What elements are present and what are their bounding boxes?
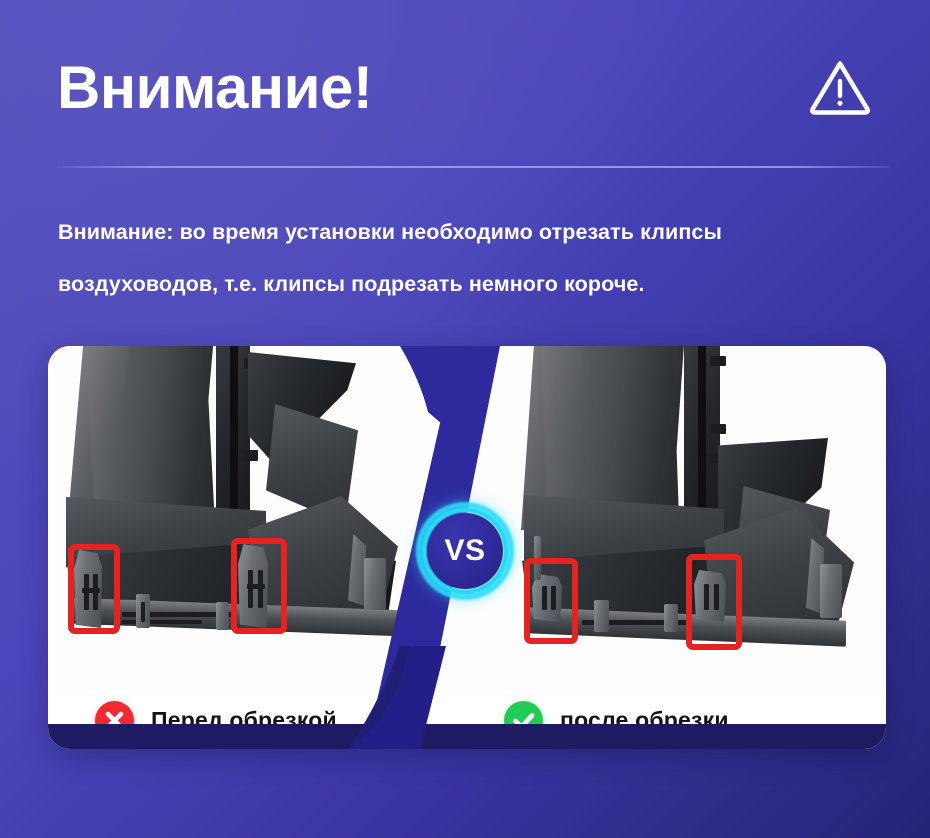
clip-highlight-box: [231, 538, 287, 634]
right-label-text: после обрезки: [560, 707, 729, 734]
vs-label: VS: [444, 534, 485, 568]
clip-highlight-box: [686, 554, 742, 650]
vs-core: VS: [427, 513, 503, 589]
lead-paragraph: Внимание: во время установки необходимо …: [58, 206, 888, 310]
cross-icon: [95, 701, 134, 740]
label-before-cut: Перед обрезкой: [95, 691, 337, 749]
clip-highlight-box: [524, 558, 578, 644]
right-label-bar: после обрезки: [466, 691, 886, 749]
left-label-text: Перед обрезкой: [151, 707, 337, 734]
comparison-left-panel: Перед обрезкой: [48, 346, 468, 749]
photo-after-cut: [466, 346, 886, 691]
check-icon: [504, 701, 543, 740]
photo-before-cut: [48, 346, 468, 691]
comparison-card: Перед обрезкой: [48, 346, 886, 749]
left-label-bar: Перед обрезкой: [48, 691, 468, 749]
clip-highlight-box: [68, 544, 120, 634]
warning-triangle-icon: [808, 58, 872, 118]
label-after-cut: после обрезки: [504, 691, 729, 749]
vs-badge: VS: [416, 502, 514, 600]
page-title: Внимание!: [57, 52, 372, 124]
header-divider: [57, 166, 890, 168]
comparison-right-panel: после обрезки: [466, 346, 886, 749]
duct-part-illustration: [48, 346, 468, 691]
banner-header: Внимание!: [57, 52, 890, 148]
warning-banner: Внимание! Внимание: во время установки н…: [0, 0, 930, 838]
